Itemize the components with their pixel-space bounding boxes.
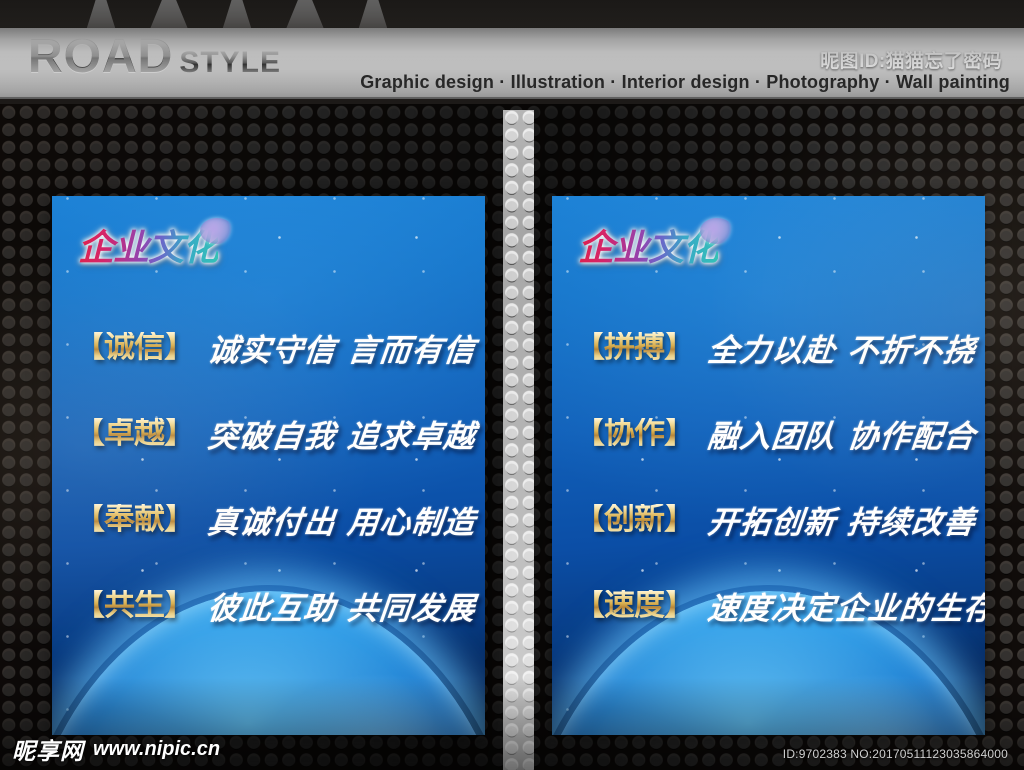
slogan-tag: 【卓越】 [74, 418, 194, 449]
slogan-tag: 【速度】 [574, 590, 694, 621]
slogan-row: 【共生】 彼此互助 共同发展 [74, 562, 471, 648]
culture-logo-text-right: 企业文化 [578, 227, 718, 268]
brand-name-road: ROAD [28, 33, 173, 81]
header-services-list: Graphic design · Illustration · Interior… [190, 72, 1010, 93]
footer-bar: 昵享网 www.nipic.cn ID:9702383 NO:201705111… [0, 734, 1024, 770]
slogan-tag: 【奉献】 [74, 504, 194, 535]
slogan-row: 【速度】 速度决定企业的生存 [574, 562, 971, 648]
cloud-ornament-icon-right [700, 218, 734, 244]
slogan-row: 【拼搏】 全力以赴 不折不挠 [574, 304, 971, 390]
poster-panel-left: 企业文化 【诚信】 诚实守信 言而有信 【卓越】 突破自我 追求卓越 【奉献】 … [52, 196, 485, 735]
poster-panel-right: 企业文化 【拼搏】 全力以赴 不折不挠 【协作】 融入团队 协作配合 【创新】 … [552, 196, 985, 735]
slogan-tag: 【拼搏】 [574, 332, 694, 363]
slogan-tag: 【共生】 [74, 590, 194, 621]
slogan-tag: 【诚信】 [74, 332, 194, 363]
slogan-tag: 【协作】 [574, 418, 694, 449]
slogan-row: 【诚信】 诚实守信 言而有信 [74, 304, 471, 390]
culture-logo-text-left: 企业文化 [78, 227, 218, 268]
header-banner: ROAD STYLE Graphic design · Illustration… [0, 0, 1024, 104]
slogan-phrase: 融入团队 协作配合 [706, 411, 979, 456]
slogan-list-left: 【诚信】 诚实守信 言而有信 【卓越】 突破自我 追求卓越 【奉献】 真诚付出 … [74, 304, 471, 648]
slogan-row: 【创新】 开拓创新 持续改善 [574, 476, 971, 562]
slogan-phrase: 全力以赴 不折不挠 [706, 325, 979, 370]
slogan-phrase: 诚实守信 言而有信 [206, 325, 479, 370]
header-bottom-strip [0, 99, 1024, 104]
slogan-phrase: 开拓创新 持续改善 [706, 497, 979, 542]
slogan-tag: 【创新】 [574, 504, 694, 535]
center-perforated-divider [503, 110, 534, 770]
slogan-phrase: 真诚付出 用心制造 [206, 497, 479, 542]
slogan-row: 【奉献】 真诚付出 用心制造 [74, 476, 471, 562]
divider-sheen [503, 110, 534, 770]
header-user-id: 昵图ID:猫猫忘了密码 [820, 46, 1002, 73]
cloud-ornament-icon-left [200, 218, 234, 244]
slogan-phrase: 彼此互助 共同发展 [206, 583, 479, 628]
slogan-phrase: 突破自我 追求卓越 [206, 411, 479, 456]
slogan-row: 【卓越】 突破自我 追求卓越 [74, 390, 471, 476]
image-id-label: ID:9702383 NO:20170511123035864000 [783, 747, 1008, 761]
site-url: www.nipic.cn [93, 738, 220, 761]
slogan-row: 【协作】 融入团队 协作配合 [574, 390, 971, 476]
culture-logo-left: 企业文化 [78, 222, 218, 274]
slogan-phrase: 速度决定企业的生存 [706, 583, 985, 628]
site-watermark: 昵享网 www.nipic.cn [12, 732, 220, 766]
slogan-list-right: 【拼搏】 全力以赴 不折不挠 【协作】 融入团队 协作配合 【创新】 开拓创新 … [574, 304, 971, 648]
culture-logo-right: 企业文化 [578, 222, 718, 274]
poster-canvas: ROAD STYLE Graphic design · Illustration… [0, 0, 1024, 770]
site-name-cn: 昵享网 [12, 732, 84, 766]
